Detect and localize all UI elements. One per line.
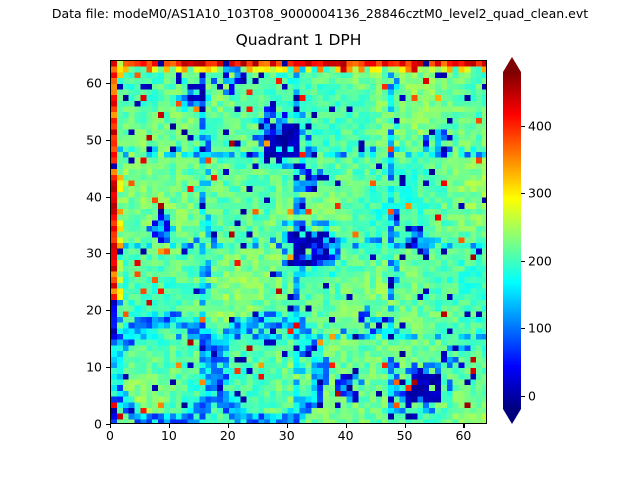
y-tick-mark [106, 83, 110, 84]
colorbar-tick-label: 300 [528, 186, 552, 201]
colorbar-extend-min-arrow [503, 409, 521, 424]
x-tick-label: 60 [455, 428, 471, 443]
colorbar-tick-mark [521, 193, 525, 194]
colorbar-tick-label: 400 [528, 118, 552, 133]
x-tick-label: 20 [220, 428, 236, 443]
y-tick-mark [106, 140, 110, 141]
colorbar-tick-label: 0 [528, 388, 536, 403]
x-tick-label: 0 [106, 428, 114, 443]
y-tick-mark [106, 310, 110, 311]
x-tick-label: 40 [338, 428, 354, 443]
y-tick-mark [106, 253, 110, 254]
data-file-label: Data file: modeM0/AS1A10_103T08_90000041… [0, 6, 640, 21]
heatmap-axes[interactable] [110, 60, 487, 424]
colorbar-tick-mark [521, 261, 525, 262]
colorbar-extend-max-arrow [503, 57, 521, 72]
y-tick-mark [106, 197, 110, 198]
colorbar-gradient [503, 72, 521, 409]
page-title: Quadrant 1 DPH [110, 31, 487, 49]
matplotlib-figure: Data file: modeM0/AS1A10_103T08_90000041… [0, 0, 640, 480]
x-tick-label: 10 [161, 428, 177, 443]
y-tick-label: 30 [62, 246, 102, 261]
y-tick-label: 50 [62, 132, 102, 147]
colorbar[interactable] [503, 72, 521, 409]
y-tick-mark [106, 424, 110, 425]
colorbar-tick-mark [521, 126, 525, 127]
y-tick-label: 10 [62, 360, 102, 375]
heatmap-image[interactable] [111, 61, 487, 424]
colorbar-tick-mark [521, 328, 525, 329]
y-tick-label: 60 [62, 75, 102, 90]
colorbar-tick-mark [521, 396, 525, 397]
colorbar-tick-label: 200 [528, 253, 552, 268]
y-tick-label: 40 [62, 189, 102, 204]
y-tick-label: 0 [62, 417, 102, 432]
y-tick-label: 20 [62, 303, 102, 318]
y-tick-mark [106, 367, 110, 368]
x-tick-label: 30 [279, 428, 295, 443]
x-tick-label: 50 [397, 428, 413, 443]
colorbar-tick-label: 100 [528, 321, 552, 336]
